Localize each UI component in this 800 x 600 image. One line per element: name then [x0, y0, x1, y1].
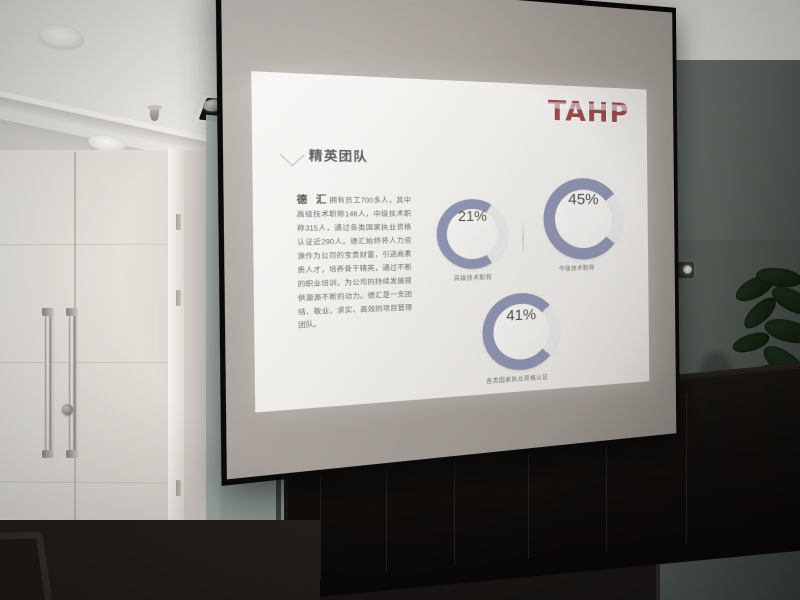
lamp-glow-icon — [683, 265, 692, 274]
donut-chart-senior: 21% 高级技术职称 — [436, 199, 508, 270]
presentation-slide[interactable]: TAHP 精英团队 德 汇拥有员工700多人，其中高级技术职称146人，中级技术… — [251, 71, 649, 412]
door-handle[interactable] — [45, 310, 51, 456]
double-door[interactable] — [0, 151, 172, 543]
projection-screen[interactable]: TAHP 精英团队 德 汇拥有员工700多人，其中高级技术职称146人，中级技术… — [216, 0, 681, 486]
sprinkler-icon — [150, 108, 159, 121]
door-handle[interactable] — [69, 310, 75, 456]
body-lead: 德 汇 — [297, 193, 330, 205]
door-panel-line — [0, 244, 172, 246]
body-rest: 拥有员工700多人，其中高级技术职称146人，中级技术职称315人，通过各类国家… — [297, 197, 412, 330]
door-hinge-icon — [176, 214, 181, 230]
door-panel-line — [0, 481, 172, 483]
donut-value: 45% — [543, 191, 622, 209]
credenza-door-seam — [686, 394, 687, 544]
slide-title-row: 精英团队 — [283, 145, 368, 165]
donut-label: 中级技术职称 — [514, 262, 636, 274]
logo-text: TAHP — [548, 96, 630, 130]
door-hinge-icon — [176, 480, 181, 496]
door-hinge-icon — [176, 290, 181, 306]
slide-title: 精英团队 — [309, 146, 368, 165]
slide-body-text: 德 汇拥有员工700多人，其中高级技术职称146人，中级技术职称315人，通过各… — [297, 190, 413, 334]
tahp-logo: TAHP — [548, 98, 630, 128]
door-lock-icon[interactable] — [62, 404, 73, 415]
donut-chart-intermediate: 45% 中级技术职称 — [543, 178, 623, 261]
screen-surface: TAHP 精英团队 德 汇拥有员工700多人，其中高级技术职称146人，中级技术… — [221, 0, 676, 479]
conference-room-scene: TAHP 精英团队 德 汇拥有员工700多人，其中高级技术职称146人，中级技术… — [0, 0, 800, 600]
door-panel-line — [0, 362, 172, 363]
donut-chart-certification: 41% 各类国家执业资格认证 — [482, 292, 560, 373]
donut-label: 各类国家执业资格认证 — [452, 370, 580, 388]
donut-value: 21% — [436, 208, 507, 225]
chevron-left-icon — [280, 143, 305, 166]
chart-divider — [522, 220, 523, 256]
